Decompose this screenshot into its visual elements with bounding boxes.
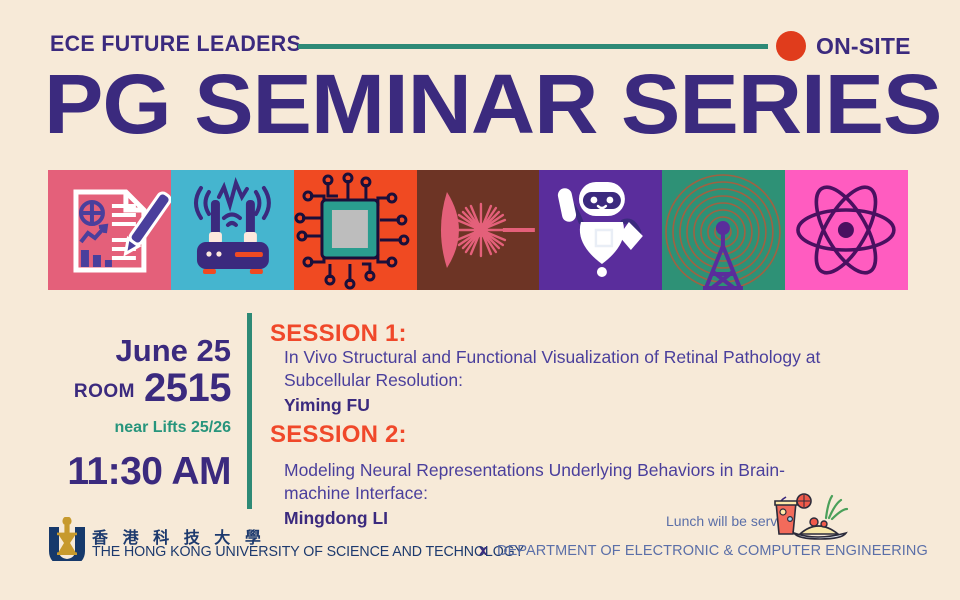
session-1-title: In Vivo Structural and Functional Visual…	[284, 347, 820, 390]
footer-separator: x	[479, 542, 487, 559]
university-name-en: THE HONG KONG UNIVERSITY OF SCIENCE AND …	[92, 544, 524, 560]
hkust-logo	[46, 517, 88, 561]
poster-kicker: ECE FUTURE LEADERS	[50, 31, 301, 57]
header-rule	[298, 44, 768, 49]
seminar-room: ROOM2515	[74, 366, 231, 411]
atom-icon	[785, 170, 908, 290]
lifts-note: near Lifts 25/26	[115, 419, 232, 437]
robot-waving-icon	[539, 170, 662, 290]
wifi-router-icon	[171, 170, 294, 290]
seminar-time: 11:30 AM	[67, 450, 231, 494]
laser-optics-icon	[417, 170, 540, 290]
antenna-tower-icon	[662, 170, 785, 290]
onsite-label: ON-SITE	[816, 33, 911, 60]
document-chart-icon	[48, 170, 171, 290]
session-2-heading: SESSION 2:	[270, 421, 407, 449]
page-title: PG SEMINAR SERIES	[44, 57, 941, 151]
section-divider	[247, 313, 252, 509]
microchip-circuit-icon	[294, 170, 417, 290]
session-2-title: Modeling Neural Representations Underlyi…	[284, 460, 785, 503]
room-number: 2515	[144, 366, 231, 410]
department-name: DEPARTMENT OF ELECTRONIC & COMPUTER ENGI…	[497, 543, 928, 559]
seminar-poster: ECE FUTURE LEADERS ON-SITE PG SEMINAR SE…	[0, 0, 960, 600]
session-1-heading: SESSION 1:	[270, 320, 407, 348]
seminar-date: June 25	[116, 333, 231, 369]
session-1-body: In Vivo Structural and Functional Visual…	[284, 346, 824, 417]
icon-strip	[48, 170, 908, 290]
room-label: ROOM	[74, 381, 135, 402]
session-1-speaker: Yiming FU	[284, 394, 824, 417]
lunch-tray-icon	[770, 488, 852, 540]
